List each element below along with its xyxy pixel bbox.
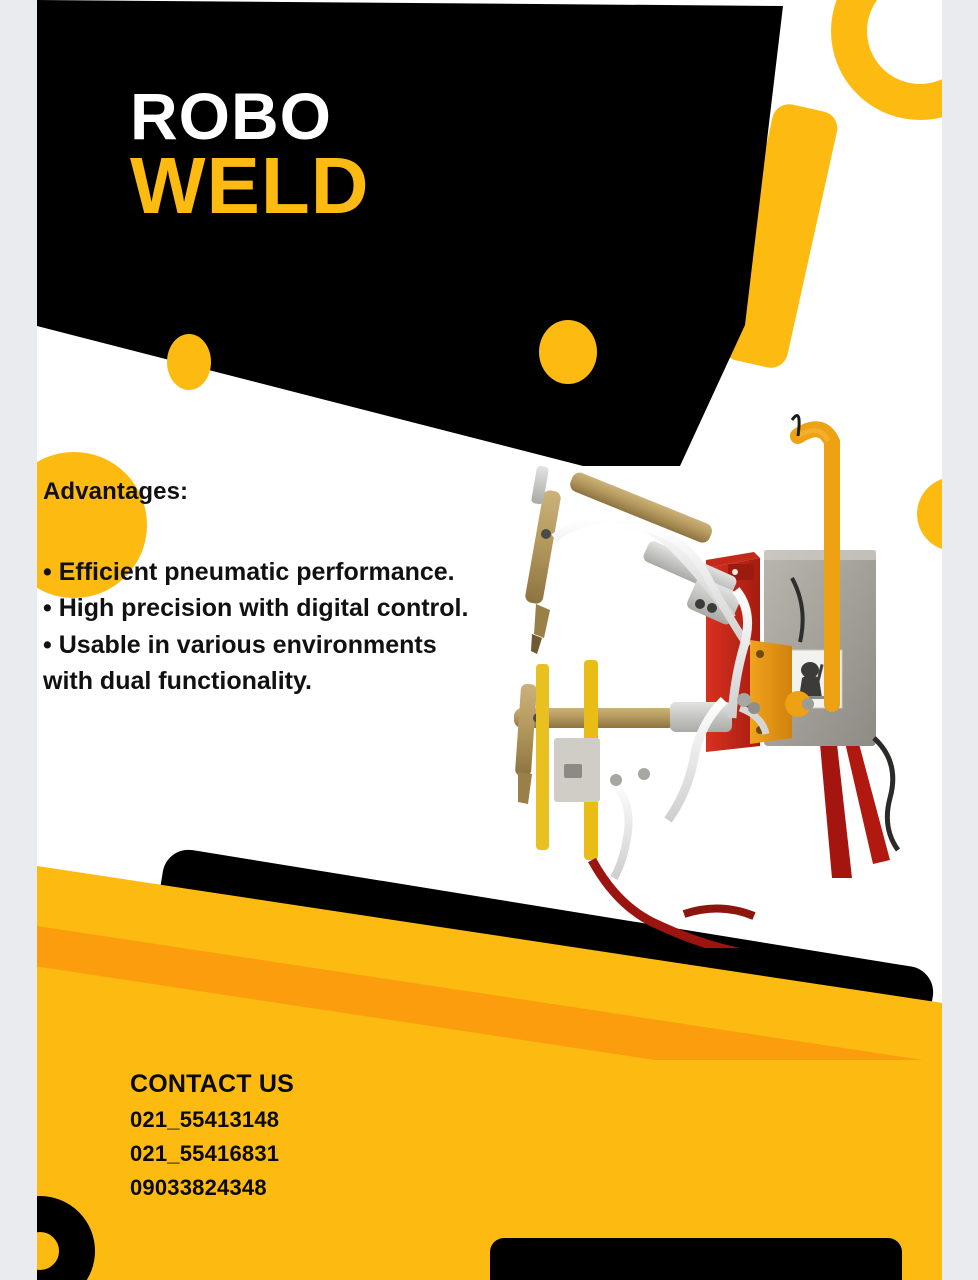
brand-logo: ROBO WELD <box>130 86 370 222</box>
screenshot-stage: ROBO WELD Advantages: • Efficient pneuma… <box>0 0 978 1280</box>
contact-phone[interactable]: 09033824348 <box>130 1175 294 1201</box>
yellow-dot-large-icon <box>539 320 597 384</box>
poster-canvas: ROBO WELD Advantages: • Efficient pneuma… <box>37 0 942 1280</box>
yellow-ring-icon <box>831 0 942 120</box>
advantages-title: Advantages: <box>43 478 543 506</box>
list-item: • High precision with digital control. <box>43 590 543 626</box>
list-item: • Efficient pneumatic performance. <box>43 554 543 590</box>
logo-line-weld: WELD <box>130 149 370 223</box>
contact-block: CONTACT US 021_55413148 021_55416831 090… <box>130 1070 294 1201</box>
contact-phone[interactable]: 021_55413148 <box>130 1107 294 1133</box>
contact-phone[interactable]: 021_55416831 <box>130 1141 294 1167</box>
advantages-block: Advantages: • Efficient pneumatic perfor… <box>43 478 543 699</box>
product-photo-spot-welder <box>492 408 932 948</box>
logo-line-robo: ROBO <box>130 86 370 147</box>
advantages-list: • Efficient pneumatic performance. • Hig… <box>43 554 543 699</box>
contact-title: CONTACT US <box>130 1070 294 1099</box>
yellow-dot-small-icon <box>167 334 211 390</box>
list-item: • Usable in various environments with du… <box>43 627 543 700</box>
black-slab-bottom-right <box>490 1238 902 1280</box>
